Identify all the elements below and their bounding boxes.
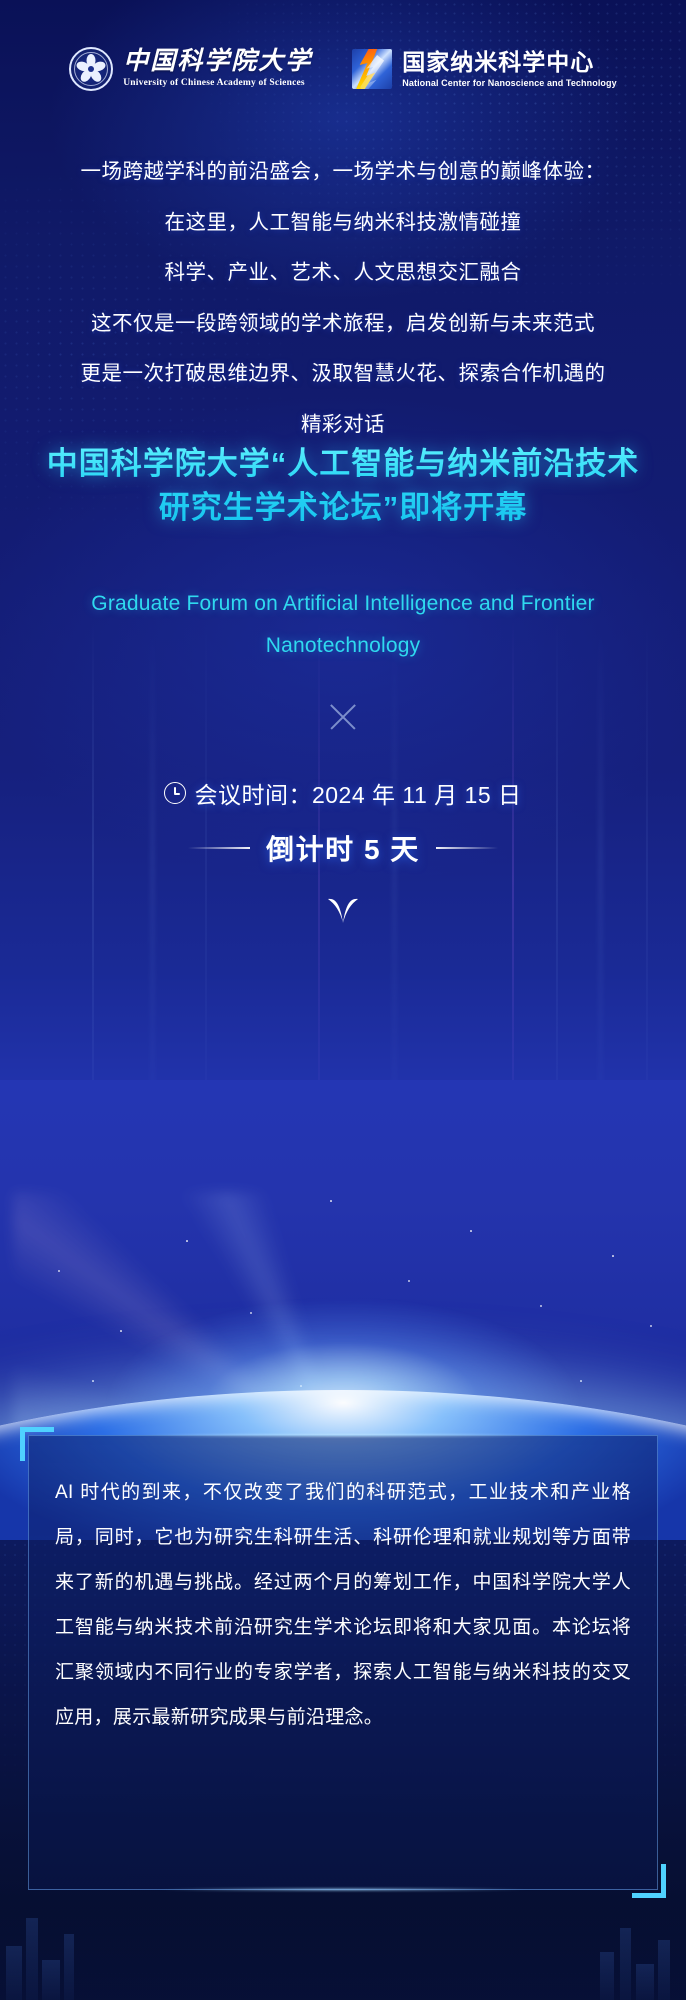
page-title-cn: 中国科学院大学“人工智能与纳米前沿技术研究生学术论坛”即将开幕 [36,442,650,530]
intro-line: 在这里，人工智能与纳米科技激情碰撞 [0,213,686,234]
chevron-down-arrow-icon [327,898,359,924]
poster-root: 中国科学院大学 University of Chinese Academy of… [0,0,686,2000]
intro-line: 一场跨越学科的前沿盛会，一场学术与创意的巅峰体验： [0,162,686,183]
card-bottom-glow [92,1888,594,1891]
corner-bracket-icon [632,1864,666,1898]
card-top-glow [67,1434,620,1437]
nano-name-en: National Center for Nanoscience and Tech… [402,79,616,88]
plum-blossom-seal-icon [69,47,113,91]
intro-line: 这不仅是一段跨领域的学术旅程，启发创新与未来范式 [0,314,686,335]
nano-name-cn: 国家纳米科学中心 [402,51,616,74]
intro-line: 精彩对话 [0,415,686,436]
nano-swoosh-icon [352,49,392,89]
countdown-rule-right [436,847,498,849]
countdown-row: 倒计时 5 天 [0,828,686,868]
event-date-row: 会议时间：2024 年 11 月 15 日 [0,776,686,810]
corner-bracket-icon [20,1427,54,1461]
intro-line: 更是一次打破思维边界、汲取智慧火花、探索合作机遇的 [0,364,686,385]
light-streaks-decoration [0,620,686,1140]
ucas-name-cn: 中国科学院大学 [123,49,312,74]
description-paragraph: AI 时代的到来，不仅改变了我们的科研范式，工业技术和产业格局，同时，它也为研究… [55,1470,631,1740]
page-title-en: Graduate Forum on Artificial Intelligenc… [36,583,650,667]
clock-icon [164,782,186,804]
event-date-label: 会议时间：2024 年 11 月 15 日 [194,776,521,810]
description-card: AI 时代的到来，不仅改变了我们的科研范式，工业技术和产业格局，同时，它也为研究… [28,1435,658,1890]
header-logos: 中国科学院大学 University of Chinese Academy of… [0,38,686,100]
countdown-label: 倒计时 5 天 [266,828,420,868]
ucas-logo: 中国科学院大学 University of Chinese Academy of… [69,47,312,91]
nano-center-logo: 国家纳米科学中心 National Center for Nanoscience… [352,49,616,89]
x-cross-divider-icon [326,700,360,734]
intro-text-block: 一场跨越学科的前沿盛会，一场学术与创意的巅峰体验： 在这里，人工智能与纳米科技激… [0,162,686,465]
ucas-name-en: University of Chinese Academy of Science… [123,79,312,89]
countdown-rule-left [188,847,250,849]
intro-line: 科学、产业、艺术、人文思想交汇融合 [0,263,686,284]
